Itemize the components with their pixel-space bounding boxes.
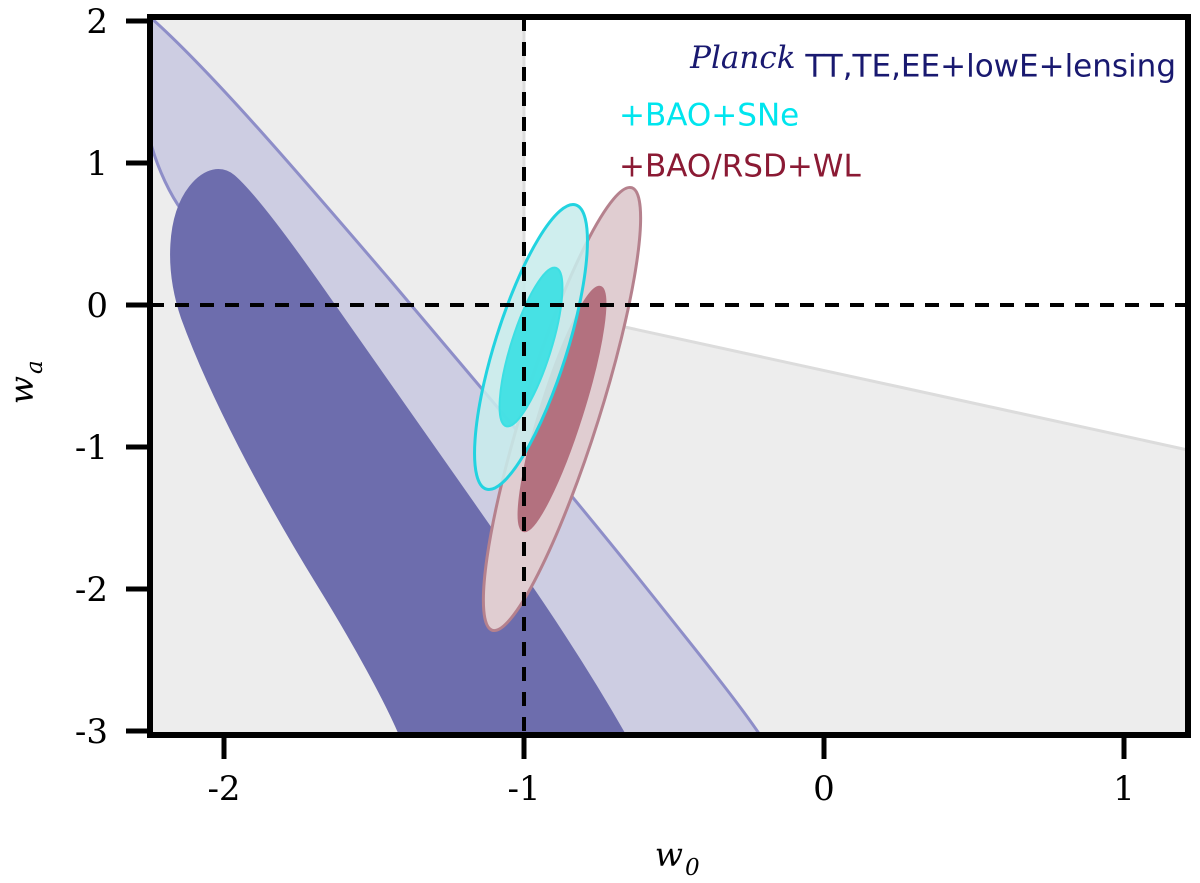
legend-entry-planck-italic: Planck [689, 40, 795, 76]
x-tick-label-1: -1 [507, 769, 540, 809]
legend-entry-bao-sne: +BAO+SNe [619, 98, 799, 134]
x-axis-title-main: w [655, 835, 683, 874]
legend-entry-bao-rsd-wl: +BAO/RSD+WL [619, 149, 861, 185]
y-tick-label-5: -3 [75, 712, 108, 752]
y-axis-title-main: w [2, 376, 41, 404]
y-tick-label-2: 0 [86, 286, 108, 326]
y-axis-title-sub: a [22, 360, 48, 374]
x-axis-title-sub: 0 [685, 855, 700, 881]
y-tick-label-0: 2 [86, 2, 108, 42]
x-tick-label-0: -2 [207, 769, 240, 809]
x-tick-label-3: 1 [1113, 769, 1135, 809]
figure-page: -2 -1 0 1 2 1 0 -1 -2 -3 w 0 w a Planck … [0, 0, 1200, 883]
constraint-plot: -2 -1 0 1 2 1 0 -1 -2 -3 w 0 w a Planck … [0, 0, 1200, 883]
x-tick-label-2: 0 [813, 769, 835, 809]
legend-entry-planck-label: TT,TE,EE+lowE+lensing [796, 49, 1176, 85]
y-tick-label-4: -2 [75, 570, 108, 610]
y-tick-label-1: 1 [86, 144, 108, 184]
y-tick-label-3: -1 [75, 428, 108, 468]
